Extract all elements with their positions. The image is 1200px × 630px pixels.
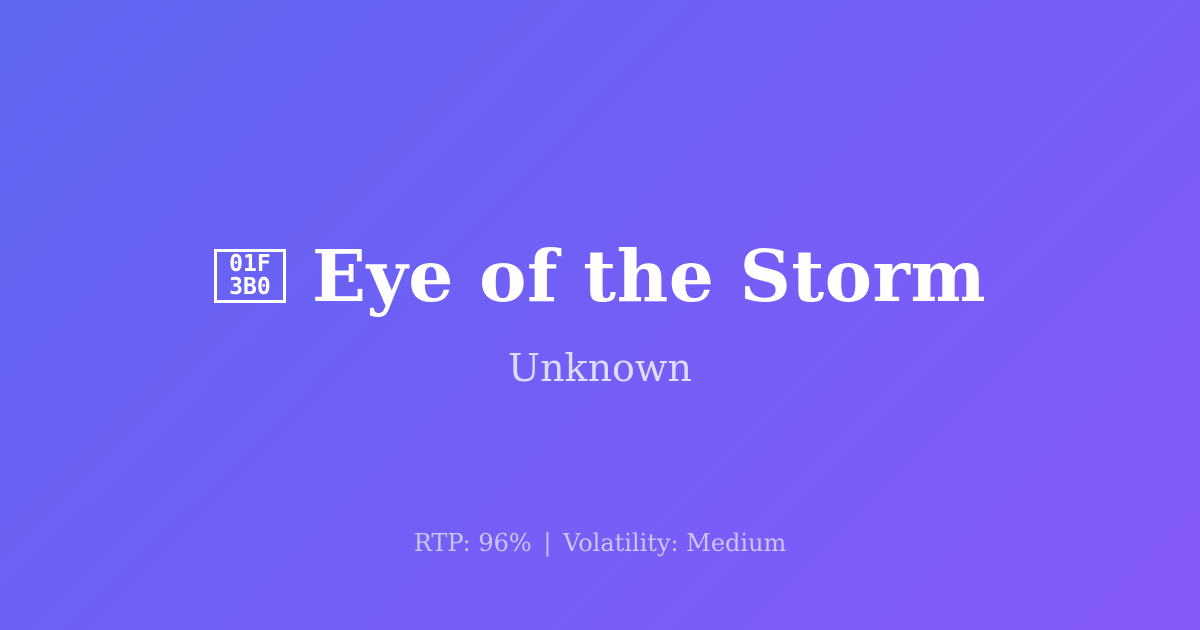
hero-block: 01F 3B0 Eye of the Storm Unknown (0, 236, 1200, 392)
slot-machine-icon: 01F 3B0 (214, 249, 286, 303)
og-preview-card: 01F 3B0 Eye of the Storm Unknown RTP: 96… (0, 0, 1200, 630)
volatility-value: Volatility: Medium (563, 529, 786, 557)
codepoint-line-2: 3B0 (229, 276, 271, 299)
codepoint-line-1: 01F (229, 253, 271, 276)
page-title: Eye of the Storm (312, 236, 986, 316)
title-row: 01F 3B0 Eye of the Storm (214, 236, 986, 316)
game-subtitle: Unknown (508, 344, 692, 392)
game-meta-line: RTP: 96% | Volatility: Medium (0, 528, 1200, 558)
meta-separator: | (539, 529, 555, 557)
rtp-value: RTP: 96% (414, 529, 532, 557)
